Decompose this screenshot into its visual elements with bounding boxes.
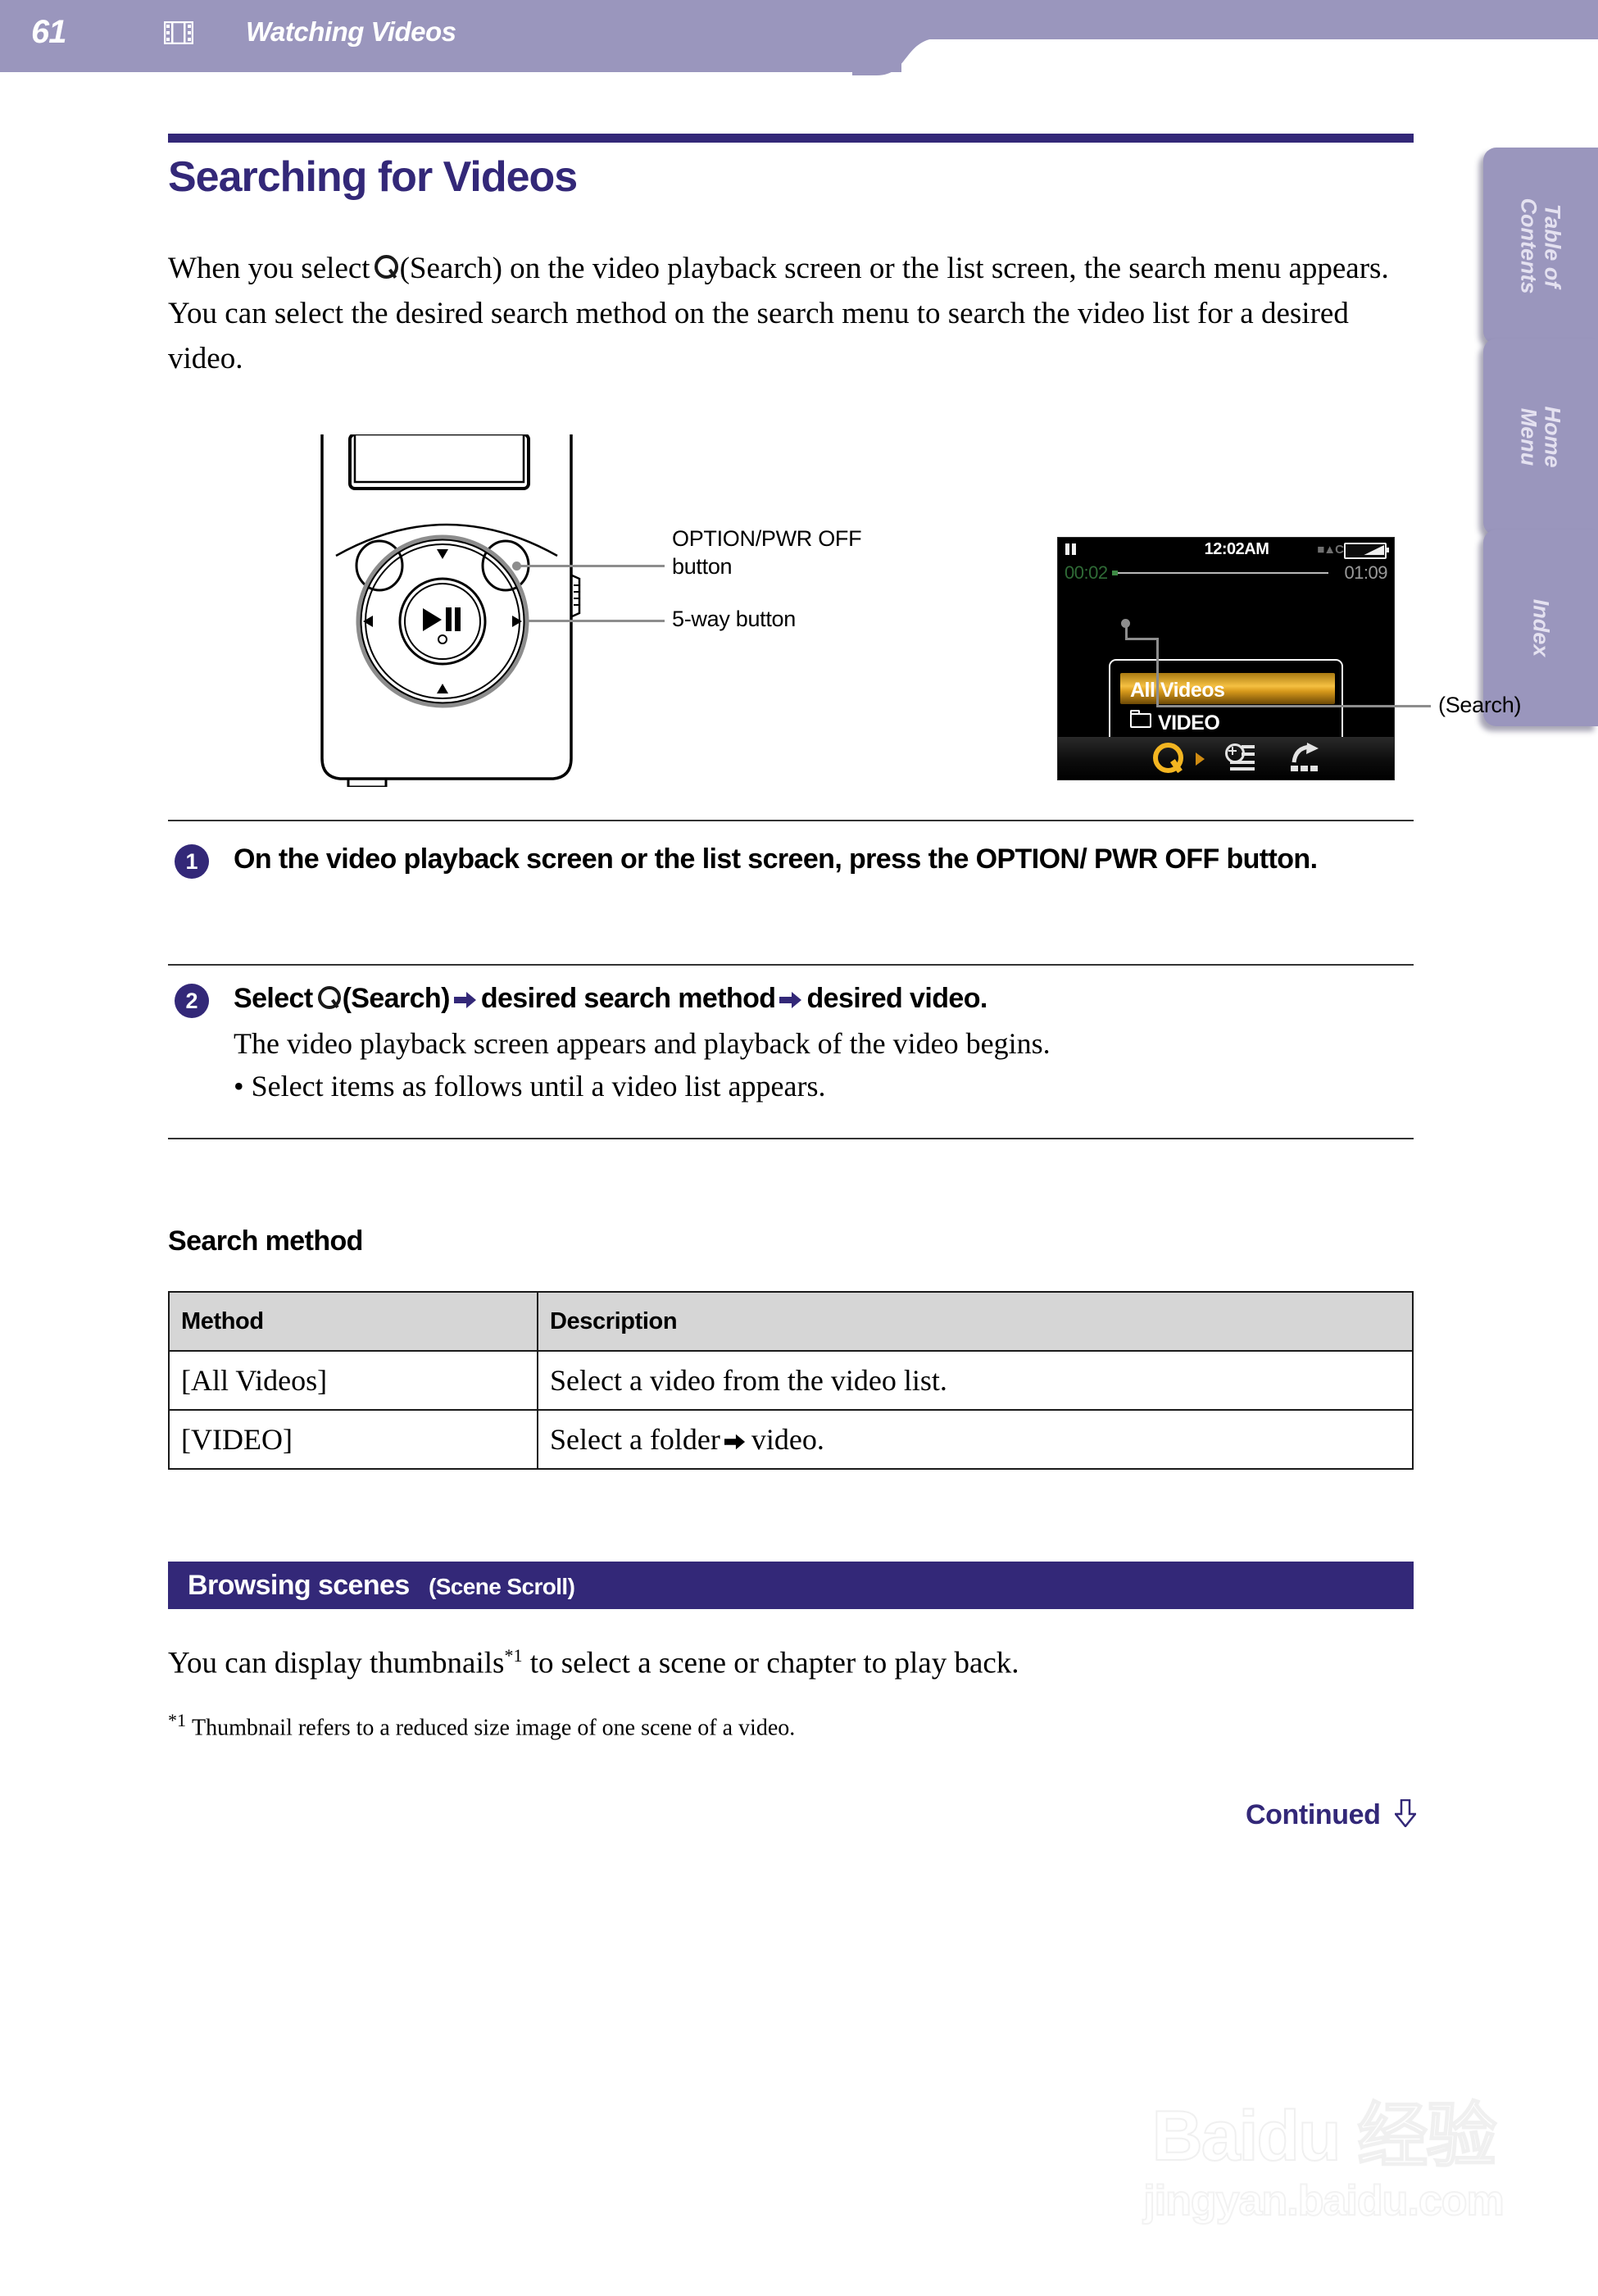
battery-icon bbox=[1344, 543, 1387, 559]
banner-title: Browsing scenes bbox=[188, 1570, 410, 1602]
lock-icon: ■▲C bbox=[1317, 543, 1343, 557]
browsing-scenes-banner: Browsing scenes (Scene Scroll) bbox=[168, 1562, 1414, 1609]
lcd-screen-mockup: 12:02AM ■▲C 00:02 01:09 All Videos VIDEO bbox=[1057, 537, 1395, 780]
go-to-icon[interactable] bbox=[1289, 743, 1325, 774]
figure-device-and-screen: OPTION/PWR OFFbutton 5-way button 12:02A… bbox=[168, 434, 1422, 795]
step-badge-2: 2 bbox=[175, 984, 209, 1018]
search-method-table: Method Description [All Videos] Select a… bbox=[168, 1291, 1414, 1470]
table-cell-description: Select a video from the video list. bbox=[538, 1351, 1413, 1410]
right-arrow-icon bbox=[779, 991, 802, 1009]
step-2-method: desired search method bbox=[481, 983, 776, 1014]
sidebar-tab-label: Table ofContents bbox=[1517, 198, 1564, 294]
table-row: [All Videos] Select a video from the vid… bbox=[169, 1351, 1413, 1410]
folder-icon bbox=[1130, 713, 1151, 728]
lcd-menu-item-video[interactable]: VIDEO bbox=[1130, 712, 1219, 735]
intro-text-a: When you select bbox=[168, 252, 370, 285]
step-2-select: Select bbox=[234, 983, 313, 1014]
callout-5way-button: 5-way button bbox=[672, 605, 796, 633]
step-2-bullet: • Select items as follows until a video … bbox=[234, 1066, 1405, 1107]
step-2-search-word: (Search) bbox=[343, 983, 450, 1014]
sidebar-tab-table-of-contents[interactable]: Table ofContents bbox=[1483, 148, 1598, 344]
lcd-progress-bar bbox=[1115, 572, 1328, 574]
search-method-heading: Search method bbox=[168, 1225, 363, 1257]
header-curve bbox=[852, 38, 967, 75]
banner-subtitle: (Scene Scroll) bbox=[429, 1574, 574, 1600]
search-icon bbox=[316, 986, 339, 1011]
page-title: Searching for Videos bbox=[168, 152, 577, 202]
divider bbox=[168, 820, 1414, 821]
lcd-menu-item-all-videos[interactable]: All Videos bbox=[1120, 673, 1335, 704]
add-to-playlist-icon[interactable] bbox=[1225, 743, 1260, 773]
leader-line-search-v2 bbox=[1156, 638, 1159, 707]
lcd-menu-item-label: All Videos bbox=[1130, 679, 1224, 702]
title-rule bbox=[168, 134, 1414, 143]
film-strip-icon bbox=[164, 21, 193, 44]
leader-line-option bbox=[519, 565, 665, 567]
search-icon[interactable] bbox=[1150, 741, 1184, 775]
lcd-time-total: 01:09 bbox=[1344, 562, 1387, 584]
page-number: 61 bbox=[31, 11, 80, 52]
lcd-time-current: 00:02 bbox=[1065, 562, 1108, 584]
callout-search: (Search) bbox=[1438, 691, 1521, 719]
triangle-separator-icon bbox=[1196, 752, 1205, 766]
step-1-text: On the video playback screen or the list… bbox=[234, 839, 1405, 879]
table-row: [VIDEO] Select a foldervideo. bbox=[169, 1410, 1413, 1469]
table-header-row: Method Description bbox=[169, 1292, 1413, 1351]
leader-line-5way bbox=[529, 620, 665, 622]
right-arrow-icon bbox=[454, 991, 477, 1009]
lcd-menu-item-label: VIDEO bbox=[1158, 712, 1219, 734]
lcd-status-bar: 12:02AM ■▲C bbox=[1058, 538, 1394, 560]
baidu-watermark: Baidu 经验 jingyan.baidu.com bbox=[1110, 2062, 1537, 2266]
table-column-method: Method bbox=[169, 1292, 538, 1351]
continued-label: Continued bbox=[1246, 1799, 1416, 1835]
browsing-footnote: *1 Thumbnail refers to a reduced size im… bbox=[168, 1705, 1397, 1744]
step-2-heading: Select(Search)desired search methoddesir… bbox=[234, 979, 1405, 1018]
browsing-body: You can display thumbnails*1 to select a… bbox=[168, 1635, 1397, 1684]
header-title: Watching Videos bbox=[246, 13, 456, 51]
device-illustration bbox=[316, 434, 594, 787]
intro-paragraph: When you select(Search) on the video pla… bbox=[168, 246, 1422, 381]
table-cell-method: [All Videos] bbox=[169, 1351, 538, 1410]
leader-line-search-v bbox=[1125, 623, 1128, 639]
divider bbox=[168, 1138, 1414, 1139]
lcd-toolbar bbox=[1058, 737, 1394, 780]
down-arrow-icon bbox=[1395, 1799, 1416, 1835]
sidebar-tab-label: HomeMenu bbox=[1517, 406, 1564, 467]
watermark-brand: Baidu 经验 bbox=[1110, 2078, 1537, 2180]
search-icon bbox=[373, 255, 397, 281]
step-2-video: desired video. bbox=[806, 983, 987, 1014]
callout-option-button: OPTION/PWR OFFbutton bbox=[672, 525, 861, 580]
watermark-url: jingyan.baidu.com bbox=[1110, 2176, 1537, 2226]
table-cell-method: [VIDEO] bbox=[169, 1410, 538, 1469]
leader-line-search-h2 bbox=[1156, 705, 1431, 707]
table-cell-description: Select a foldervideo. bbox=[538, 1410, 1413, 1469]
lcd-progress-row: 00:02 01:09 bbox=[1058, 561, 1394, 584]
table-column-description: Description bbox=[538, 1292, 1413, 1351]
step-2-description: The video playback screen appears and pl… bbox=[234, 1023, 1405, 1064]
divider bbox=[168, 964, 1414, 966]
step-badge-1: 1 bbox=[175, 844, 209, 879]
sidebar-tab-home-menu[interactable]: HomeMenu bbox=[1483, 339, 1598, 535]
leader-line-search-h1 bbox=[1125, 638, 1158, 640]
right-arrow-icon bbox=[724, 1433, 747, 1451]
sidebar-tab-label: Index bbox=[1529, 599, 1553, 657]
